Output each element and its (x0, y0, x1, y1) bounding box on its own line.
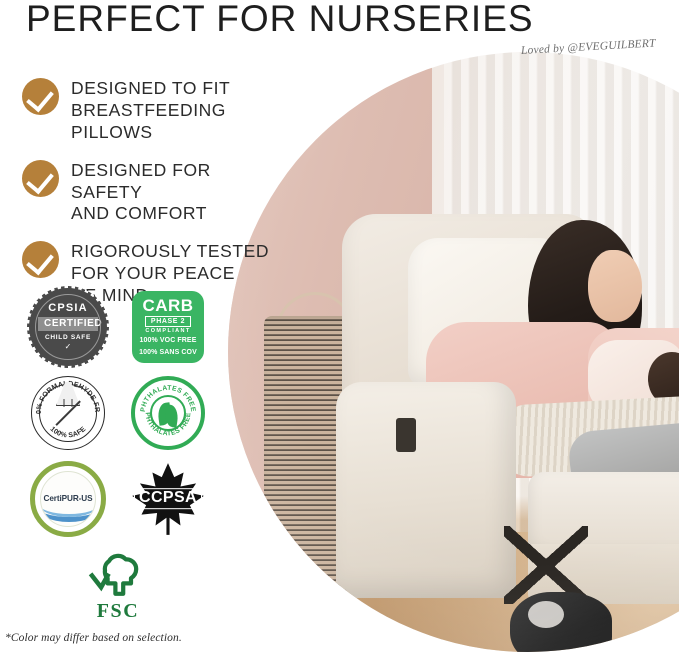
lifestyle-photo (228, 52, 679, 652)
badge-cell: 100% FORMALDEHYDE FREE 100% SAFE (18, 370, 118, 456)
photo-vignette (228, 52, 679, 652)
badge-row: CERTIFIED FOR FLEXIBLE POLYURETHANE FOAM… (18, 456, 218, 542)
cpsia-certified-badge: CPSIA CERTIFIED CHILD SAFE ✓ (31, 290, 105, 364)
ccpsa-badge: CCPSA (127, 460, 209, 538)
photo-scene (228, 52, 679, 652)
ccpsa-label: CCPSA (134, 488, 202, 509)
carb-voc-line: 100% VOC FREE (140, 337, 197, 346)
color-disclaimer: *Color may differ based on selection. (5, 632, 182, 644)
check-circle-icon (22, 78, 59, 115)
carb-phase: PHASE 2 (145, 316, 191, 327)
fsc-label: FSC (97, 600, 140, 623)
certipur-label: CertiPUR-US (44, 495, 93, 503)
feature-text: DESIGNED FOR SAFETY AND COMFORT (71, 158, 282, 226)
check-circle-icon (22, 241, 59, 278)
feature-item: DESIGNED FOR SAFETY AND COMFORT (22, 158, 282, 226)
flask-neck (64, 399, 73, 407)
feature-line: BREASTFEEDING PILLOWS (71, 100, 282, 144)
leaf-icon (150, 395, 186, 431)
carb-phase2-badge: CARB PHASE 2 COMPLIANT 100% VOC FREE 100… (132, 291, 204, 363)
certipur-us-badge: CERTIFIED FOR FLEXIBLE POLYURETHANE FOAM… (30, 461, 106, 537)
badge-cell: CCPSA (118, 456, 218, 542)
carb-compliant: COMPLIANT (145, 329, 190, 335)
phthalates-free-badge: PHTHALATES FREE PHTHALATES FREE (131, 376, 205, 450)
certipur-inner: CertiPUR-US (40, 471, 96, 527)
feature-text: DESIGNED TO FIT BREASTFEEDING PILLOWS (71, 76, 282, 144)
flask-body (57, 406, 79, 428)
carb-title: CARB (142, 297, 193, 314)
badge-cell: CERTIFIED FOR FLEXIBLE POLYURETHANE FOAM… (18, 456, 118, 542)
check-circle-icon (22, 160, 59, 197)
feature-line: FOR YOUR PEACE (71, 263, 269, 285)
feature-line: DESIGNED FOR SAFETY (71, 160, 282, 204)
carb-sanscov-line: 100% SANS COV (139, 349, 197, 358)
badge-cell: PHTHALATES FREE PHTHALATES FREE (118, 370, 218, 456)
page-title: PERFECT FOR NURSERIES (26, 0, 534, 40)
crossed-out-flask-icon (55, 398, 81, 428)
feature-line: RIGOROUSLY TESTED (71, 241, 269, 263)
badge-row: FSC (18, 542, 218, 628)
cpsia-ring (35, 294, 101, 360)
feature-line: DESIGNED TO FIT (71, 78, 282, 100)
badge-cell: CARB PHASE 2 COMPLIANT 100% VOC FREE 100… (118, 284, 218, 370)
formaldehyde-free-badge: 100% FORMALDEHYDE FREE 100% SAFE (31, 376, 105, 450)
badge-row: CPSIA CERTIFIED CHILD SAFE ✓ CARB PHASE … (18, 284, 218, 370)
fsc-badge: FSC (75, 547, 161, 623)
feature-line: AND COMFORT (71, 203, 282, 225)
feature-item: DESIGNED TO FIT BREASTFEEDING PILLOWS (22, 76, 282, 144)
badge-row: 100% FORMALDEHYDE FREE 100% SAFE (18, 370, 218, 456)
certification-badges: CPSIA CERTIFIED CHILD SAFE ✓ CARB PHASE … (18, 284, 218, 628)
badge-cell: CPSIA CERTIFIED CHILD SAFE ✓ (18, 284, 118, 370)
product-feature-panel: PERFECT FOR NURSERIES (0, 0, 679, 656)
fsc-tree-check-icon (79, 547, 157, 599)
